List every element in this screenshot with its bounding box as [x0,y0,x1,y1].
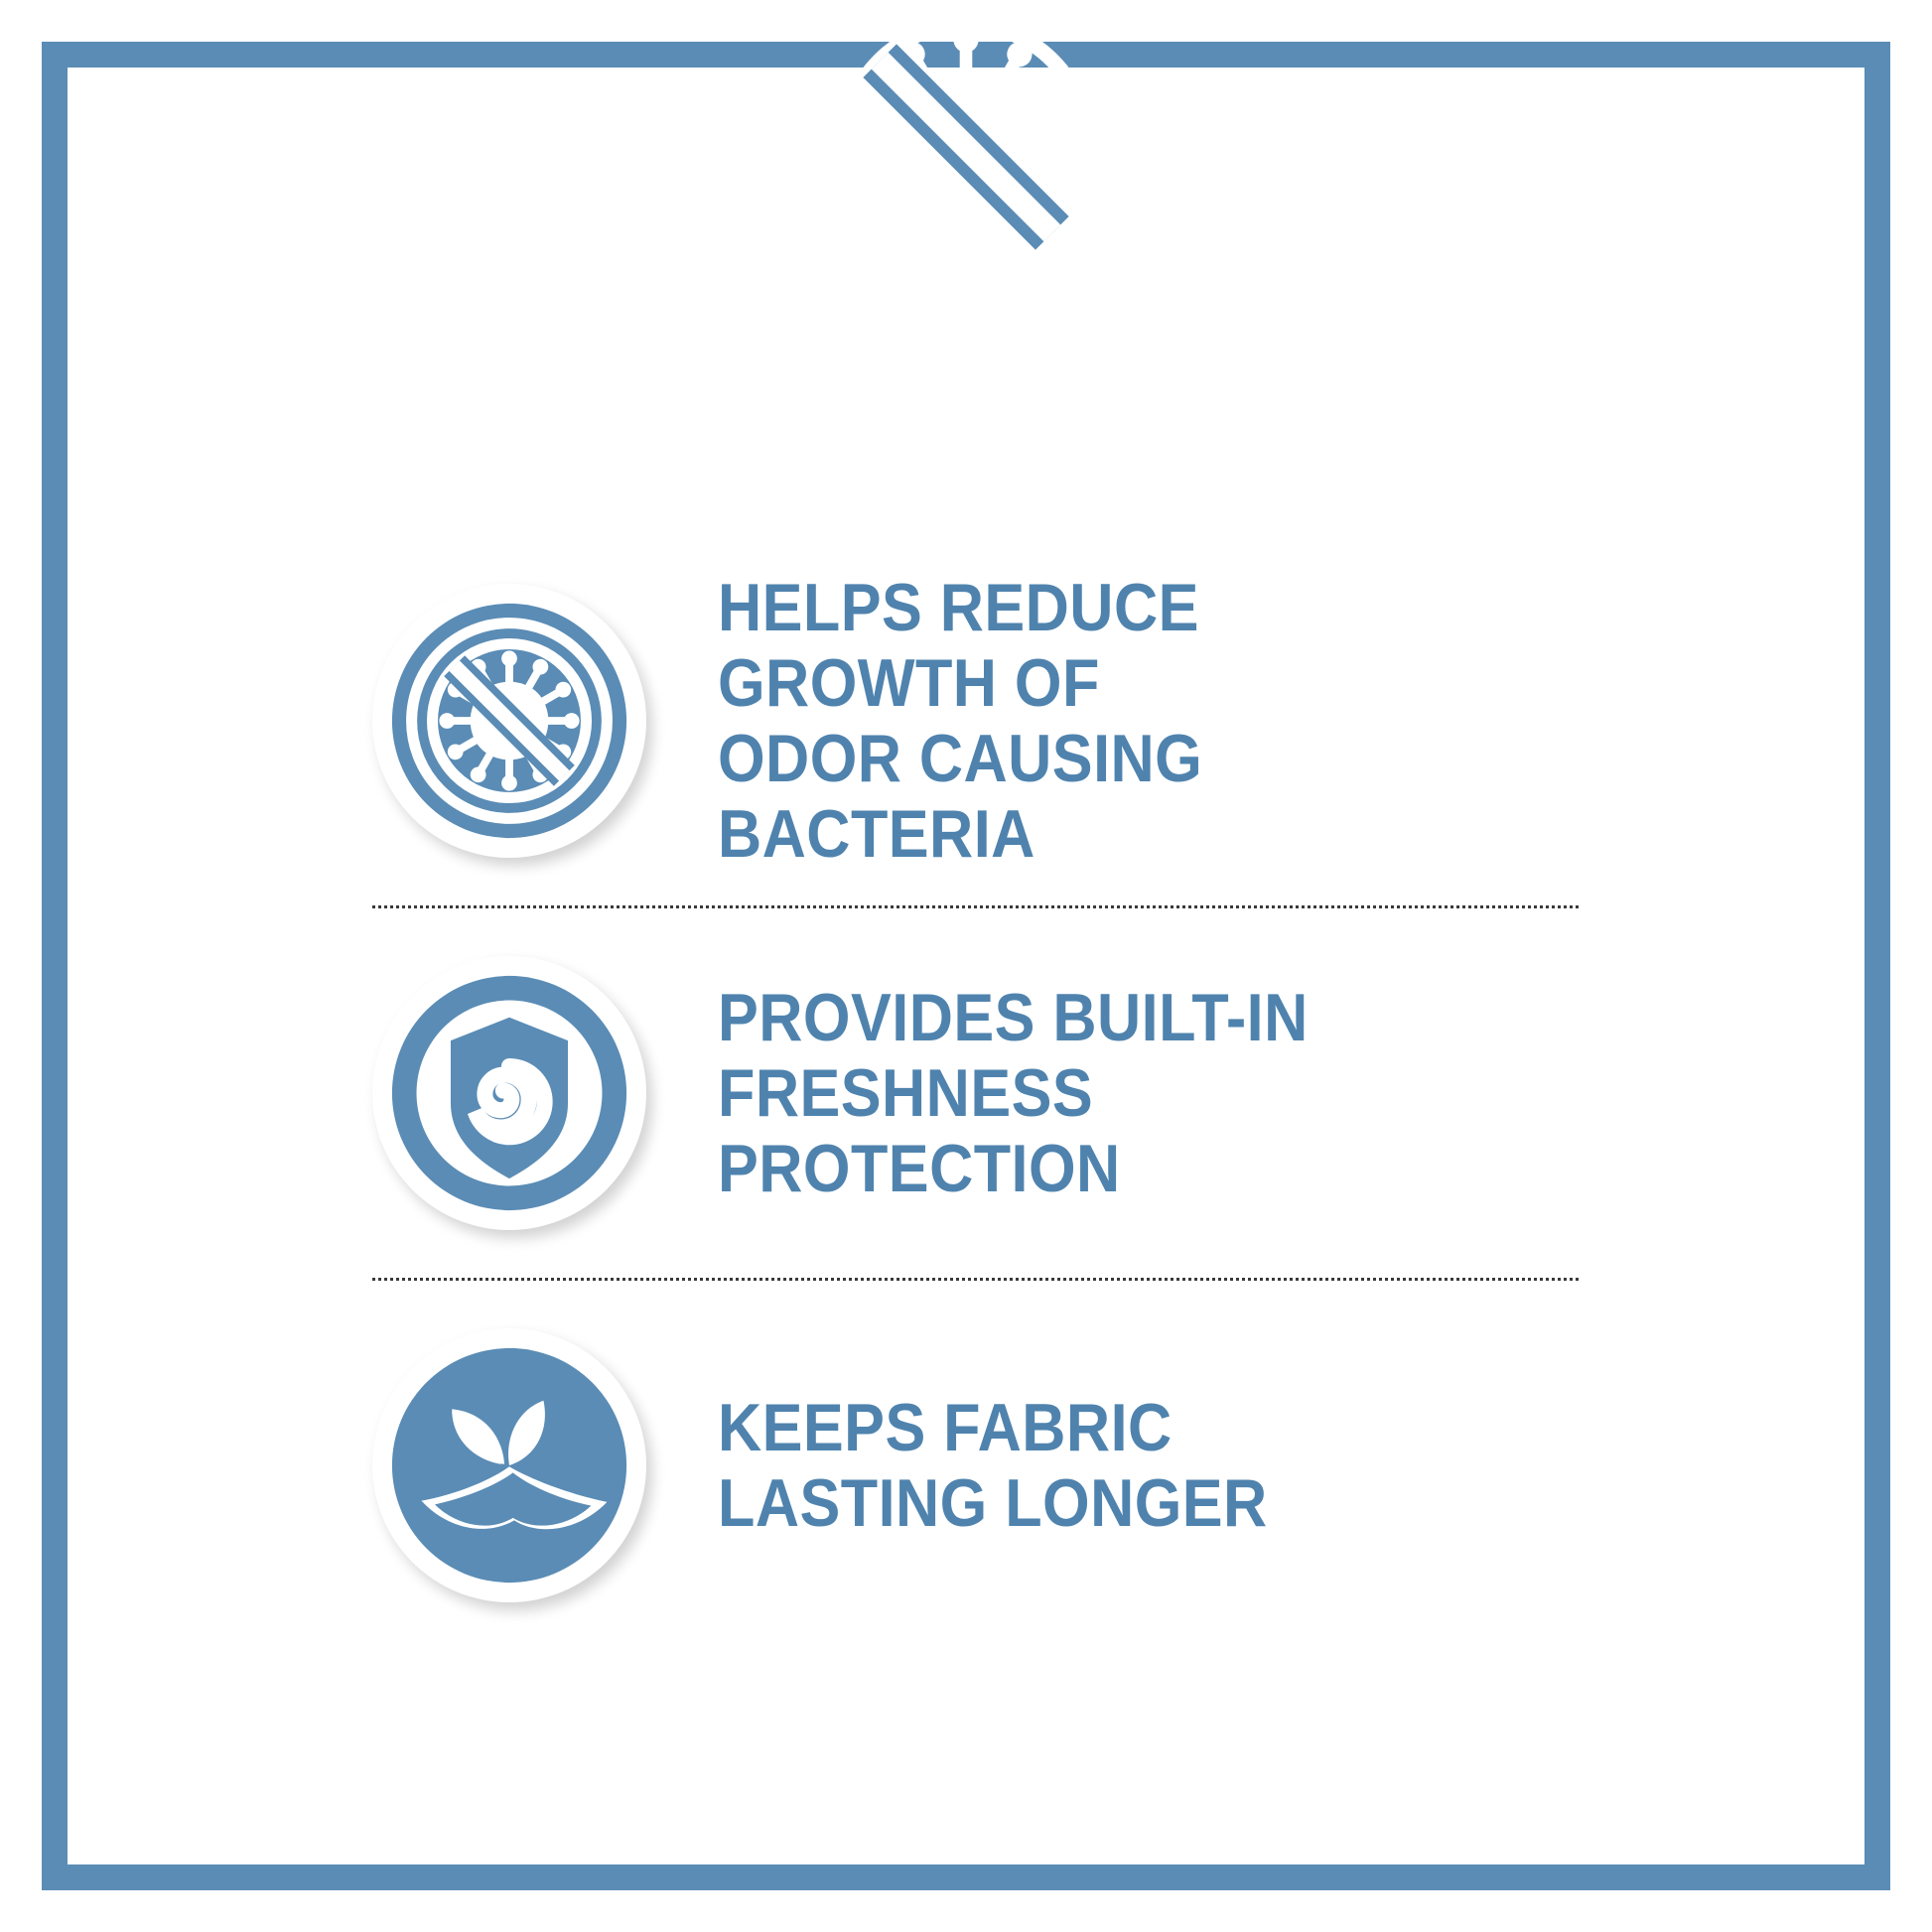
feature-icon-wrapper [372,584,646,858]
list-item: PROVIDES BUILT-IN FRESHNESS PROTECTION [372,908,1579,1278]
feature-list-panel: HELPS REDUCE GROWTH OF ODOR CAUSING BACT… [68,488,1864,1864]
feature-label: KEEPS FABRIC LASTING LONGER [718,1390,1268,1541]
list-item: KEEPS FABRIC LASTING LONGER [372,1281,1579,1650]
leaf-sprout-icon [372,1328,646,1602]
feature-icon-wrapper [372,956,646,1230]
no-germ-icon [372,584,646,858]
shield-swirl-icon [372,956,646,1230]
page-title: ANTIMICROBIAL [135,306,1797,423]
antimicrobial-infographic: ANTIMICROBIAL [0,0,1932,1932]
feature-list: HELPS REDUCE GROWTH OF ODOR CAUSING BACT… [372,536,1579,1650]
feature-label: HELPS REDUCE GROWTH OF ODOR CAUSING BACT… [718,570,1492,873]
list-item: HELPS REDUCE GROWTH OF ODOR CAUSING BACT… [372,536,1579,905]
feature-icon-wrapper [372,1328,646,1602]
feature-label: PROVIDES BUILT-IN FRESHNESS PROTECTION [718,980,1492,1206]
